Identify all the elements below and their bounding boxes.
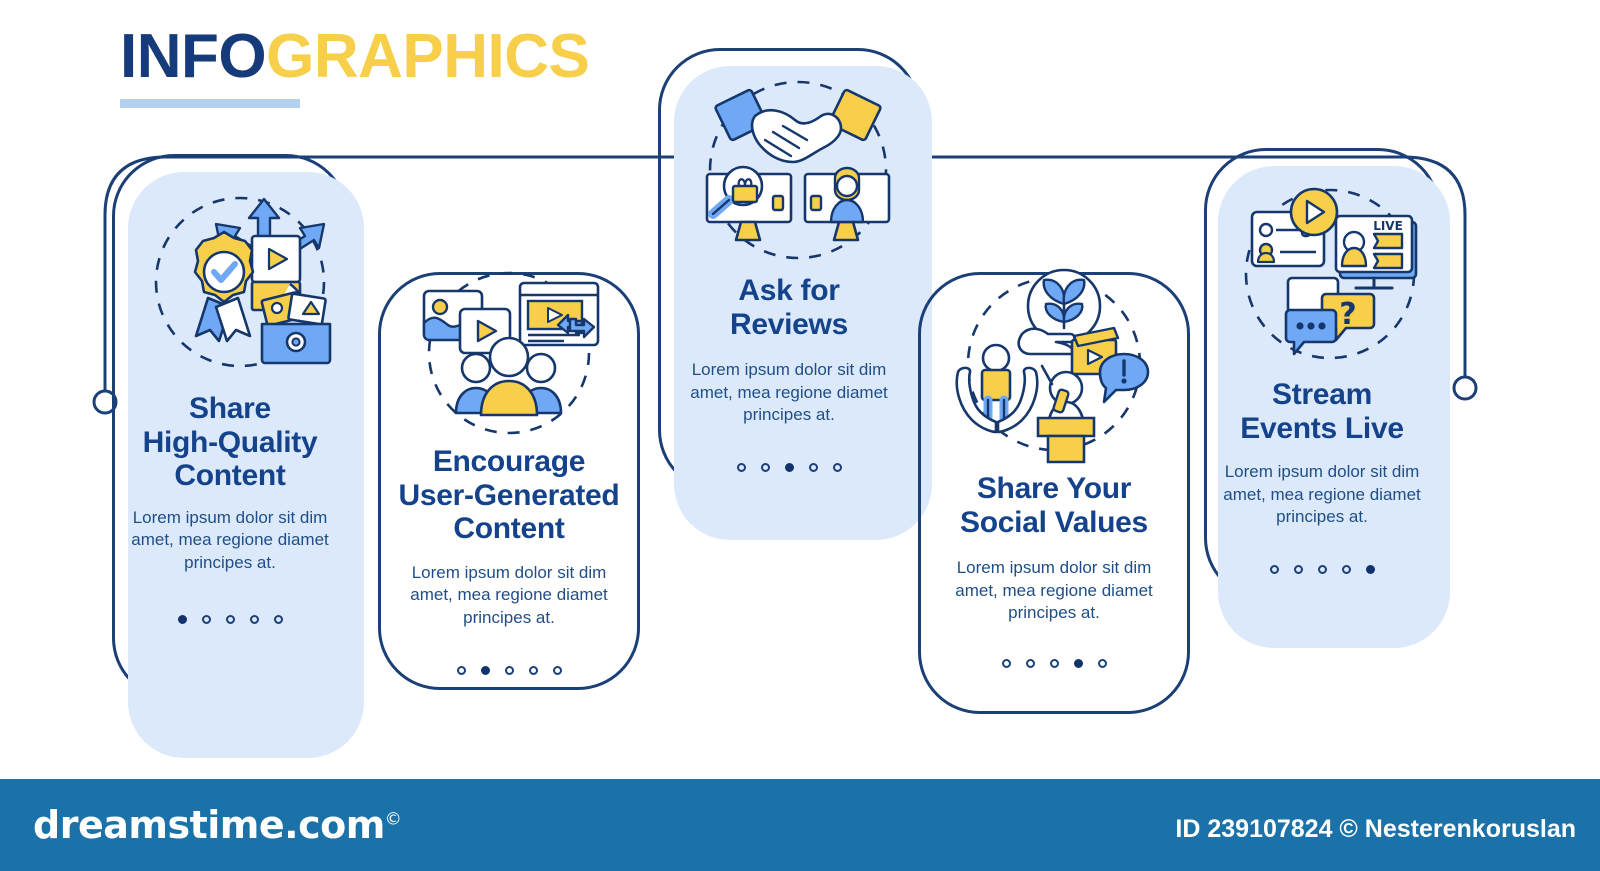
infographic-canvas: INFOGRAPHICS	[0, 0, 1600, 871]
card-3-progress-dots[interactable]	[737, 463, 842, 472]
handshake-reviews-icon	[693, 70, 903, 270]
card-1-dot-3[interactable]	[226, 615, 235, 624]
card-1-dot-5[interactable]	[274, 615, 283, 624]
card-4-dot-2[interactable]	[1026, 659, 1035, 668]
card-3-title: Ask for Reviews	[730, 274, 848, 341]
card-2-icon-area	[404, 267, 614, 437]
card-1-body: Lorem ipsum dolor sit dim amet, mea regi…	[125, 507, 335, 575]
card-2-dot-4[interactable]	[529, 666, 538, 675]
card-4-progress-dots[interactable]	[1002, 659, 1107, 668]
card-1-dot-4[interactable]	[250, 615, 259, 624]
card-3-icon-area	[693, 70, 903, 270]
card-3[interactable]: Ask for Reviews Lorem ipsum dolor sit di…	[658, 48, 920, 492]
card-5[interactable]: LIVE ? Stream Events Live Lore	[1204, 148, 1440, 600]
card-3-dot-4[interactable]	[809, 463, 818, 472]
card-2-dot-1[interactable]	[457, 666, 466, 675]
dreamstime-logo: dreamstime.com©	[33, 803, 401, 847]
card-4-dot-5[interactable]	[1098, 659, 1107, 668]
card-1-dot-1[interactable]	[178, 615, 187, 624]
card-1-title: Share High-Quality Content	[143, 392, 318, 493]
quality-content-icon	[140, 192, 340, 382]
card-1[interactable]: Share High-Quality Content Lorem ipsum d…	[112, 154, 348, 700]
card-2-dot-2[interactable]	[481, 666, 490, 675]
title-underline-rule	[120, 99, 300, 108]
card-1-dot-2[interactable]	[202, 615, 211, 624]
connector-endpoint-right	[1454, 377, 1476, 399]
social-values-icon	[944, 266, 1164, 466]
card-1-icon-area	[140, 192, 340, 382]
card-2-dot-5[interactable]	[553, 666, 562, 675]
card-5-dot-2[interactable]	[1294, 565, 1303, 574]
card-4-icon-area	[944, 266, 1164, 466]
card-3-body: Lorem ipsum dolor sit dim amet, mea regi…	[683, 359, 895, 427]
user-generated-content-icon	[404, 265, 614, 440]
card-5-body: Lorem ipsum dolor sit dim amet, mea regi…	[1215, 461, 1429, 529]
image-id-credit: ID 239107824 © Nesterenkoruslan	[1175, 815, 1576, 844]
card-4-title: Share Your Social Values	[960, 472, 1148, 539]
svg-text:?: ?	[1339, 297, 1356, 332]
card-5-icon-area: LIVE ?	[1230, 182, 1430, 372]
card-1-progress-dots[interactable]	[178, 615, 283, 624]
page-header: INFOGRAPHICS	[120, 26, 589, 108]
card-2[interactable]: Encourage User-Generated Content Lorem i…	[378, 272, 640, 690]
card-2-progress-dots[interactable]	[457, 666, 562, 675]
card-3-dot-5[interactable]	[833, 463, 842, 472]
card-3-dot-3[interactable]	[785, 463, 794, 472]
card-2-title: Encourage User-Generated Content	[399, 445, 620, 546]
card-5-title: Stream Events Live	[1240, 378, 1403, 445]
card-5-dot-1[interactable]	[1270, 565, 1279, 574]
card-2-body: Lorem ipsum dolor sit dim amet, mea regi…	[403, 562, 615, 630]
live-stream-icon: LIVE ?	[1230, 182, 1430, 372]
copyright-mark-icon: ©	[385, 809, 402, 829]
svg-text:LIVE: LIVE	[1373, 219, 1403, 233]
card-4-body: Lorem ipsum dolor sit dim amet, mea regi…	[948, 557, 1160, 625]
page-title-graphics: GRAPHICS	[266, 22, 589, 91]
card-3-dot-2[interactable]	[761, 463, 770, 472]
card-4-dot-3[interactable]	[1050, 659, 1059, 668]
card-5-dot-3[interactable]	[1318, 565, 1327, 574]
card-5-progress-dots[interactable]	[1270, 565, 1375, 574]
card-2-dot-3[interactable]	[505, 666, 514, 675]
dreamstime-logo-text: dreamstime.com	[33, 803, 385, 847]
card-5-dot-5[interactable]	[1366, 565, 1375, 574]
card-4[interactable]: Share Your Social Values Lorem ipsum dol…	[918, 272, 1190, 714]
card-5-dot-4[interactable]	[1342, 565, 1351, 574]
card-3-dot-1[interactable]	[737, 463, 746, 472]
page-title: INFOGRAPHICS	[120, 26, 589, 88]
card-4-dot-4[interactable]	[1074, 659, 1083, 668]
card-4-dot-1[interactable]	[1002, 659, 1011, 668]
page-title-info: INFO	[120, 22, 266, 91]
watermark-footer: dreamstime.com© ID 239107824 © Nesterenk…	[0, 779, 1600, 871]
